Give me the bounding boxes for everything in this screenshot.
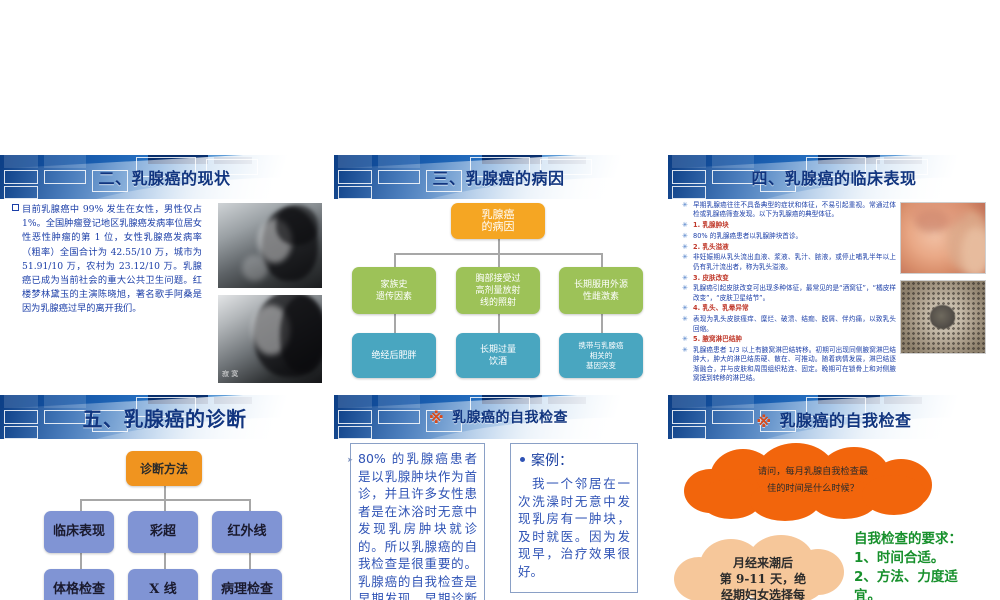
flow-node-level1-0: 家族史 遗传因素	[352, 267, 436, 314]
list-item: ✳乳腺癌引起皮肤改变可出现多种体征，最常见的是“酒窝征”，“橘皮样改变”，“皮肤…	[678, 284, 896, 303]
diagnosis-flowchart: 诊断方法 临床表现 彩超 红外线 体格检查 X 线 病理检查	[0, 451, 329, 600]
asterisk-icon: ✳	[682, 315, 688, 324]
photo-caption: 寂 寞	[222, 369, 238, 379]
list-item: ✳乳腺癌患者 1/3 以上有腋窝淋巴结转移。初期可出现同侧腋窝淋巴结肿大，肿大的…	[678, 346, 896, 383]
photo-woman-portrait-2: 寂 寞	[218, 295, 322, 383]
arrow-bullet-icon: ➤	[347, 452, 353, 470]
list-item: ✳3. 皮肤改变	[678, 274, 896, 283]
slide-grid: 二、乳腺癌的现状 目前乳腺癌中 99% 发生在女性，男性仅占 1%。全国肿瘤登记…	[0, 155, 1000, 600]
asterisk-icon: ✳	[682, 346, 688, 355]
asterisk-icon: ✳	[682, 284, 688, 293]
flow-node-level2-0: 绝经后肥胖	[352, 333, 436, 378]
body-paragraph: 目前乳腺癌中 99% 发生在女性，男性仅占 1%。全国肿瘤登记地区乳腺癌发病率位…	[22, 203, 202, 317]
slide-title: ※乳腺癌的自我检查	[668, 407, 1000, 431]
asterisk-icon: ✳	[682, 253, 688, 262]
flow-node-level1-1: 胸部接受过 高剂量放射 线的照射	[456, 267, 540, 314]
slide-title: ※乳腺癌的自我检查	[334, 407, 663, 427]
list-item: ✳早期乳腺癌往往不具备典型的症状和体征，不易引起重视。常通过体检或乳腺癌筛查发现…	[678, 201, 896, 220]
slide-thumbnail-5[interactable]: 五、乳腺癌的诊断 诊断方法 临床表现 彩超 红外线 体格检查 X 线 病理检查	[0, 395, 329, 600]
flow-node-level1-1: 彩超	[128, 511, 198, 553]
flow-node-root: 乳腺癌 的病因	[451, 203, 545, 239]
list-item: ✳5. 腋窝淋巴结肿	[678, 335, 896, 344]
slide-thumbnail-7[interactable]: ※乳腺癌的自我检查 请问，每月乳腺自我检查最 佳的时间是什么时候？ 月经来潮后 …	[668, 395, 1000, 600]
question-cloud: 请问，每月乳腺自我检查最 佳的时间是什么时候？	[684, 443, 940, 521]
medical-photo-skin-dimpling	[900, 202, 986, 274]
question-text: 请问，每月乳腺自我检查最 佳的时间是什么时候？	[710, 463, 916, 497]
cause-flowchart: 乳腺癌 的病因 家族史 遗传因素 胸部接受过 高剂量放射 线的照射 长期服用外源…	[334, 207, 663, 390]
list-item: ✳表现为乳头皮肤瘙痒、糜烂、破溃、结痂、脱屑、伴灼痛，以致乳头回缩。	[678, 315, 896, 334]
case-text-box: 案例： 我一个邻居在一次洗澡时无意中发现乳房有一肿块，及时就医。因为发现早，治疗…	[510, 443, 638, 593]
photo-woman-portrait-1	[218, 203, 322, 288]
slide-title: 五、乳腺癌的诊断	[0, 403, 329, 432]
case-heading: 案例：	[518, 450, 630, 470]
medical-photo-peau-dorange	[900, 280, 986, 354]
flow-node-level2-1: 长期过量 饮酒	[456, 333, 540, 378]
slide-title: 二、乳腺癌的现状	[0, 165, 329, 189]
flow-node-level1-2: 长期服用外源 性雌激素	[559, 267, 643, 314]
flow-node-level1-0: 临床表现	[44, 511, 114, 553]
asterisk-icon: ✳	[682, 201, 688, 210]
slide-thumbnail-3[interactable]: 三、乳腺癌的病因 乳腺癌 的病因 家族史 遗传因素 胸部接受过 高剂量放射 线的…	[334, 155, 663, 390]
list-item: ✳2. 乳头溢液	[678, 243, 896, 252]
self-exam-requirements: 自我检查的要求： 1、时间合适。 2、方法、力度适 宜。	[854, 530, 962, 600]
flow-node-level2-0: 体格检查	[44, 569, 114, 600]
slide-thumbnail-page: 二、乳腺癌的现状 目前乳腺癌中 99% 发生在女性，男性仅占 1%。全国肿瘤登记…	[0, 0, 1000, 600]
asterisk-icon: ✳	[682, 274, 688, 283]
asterisk-icon: ✳	[682, 304, 688, 313]
reference-mark-icon: ※	[429, 409, 444, 427]
flow-node-level1-2: 红外线	[212, 511, 282, 553]
slide-title: 三、乳腺癌的病因	[334, 165, 663, 189]
slide-thumbnail-2[interactable]: 二、乳腺癌的现状 目前乳腺癌中 99% 发生在女性，男性仅占 1%。全国肿瘤登记…	[0, 155, 329, 390]
clinical-signs-list: ✳早期乳腺癌往往不具备典型的症状和体征，不易引起重视。常通过体检或乳腺癌筛查发现…	[678, 201, 896, 385]
slide-title: 四、乳腺癌的临床表现	[668, 165, 1000, 189]
answer-text: 月经来潮后 第 9-11 天，绝 经期妇女选择每	[688, 555, 838, 600]
answer-cloud: 月经来潮后 第 9-11 天，绝 经期妇女选择每	[674, 535, 844, 600]
asterisk-icon: ✳	[682, 232, 688, 241]
reference-mark-icon: ※	[756, 413, 771, 431]
slide-thumbnail-4[interactable]: 四、乳腺癌的临床表现 ✳早期乳腺癌往往不具备典型的症状和体征，不易引起重视。常通…	[668, 155, 1000, 390]
slide-banner: 五、乳腺癌的诊断	[0, 395, 329, 453]
bullet-icon	[12, 204, 19, 211]
self-exam-text-box: ➤ 80% 的乳腺癌患者是以乳腺肿块作为首诊，并且许多女性患者是在沐浴时无意中发…	[350, 443, 485, 600]
flow-node-level2-1: X 线	[128, 569, 198, 600]
asterisk-icon: ✳	[682, 243, 688, 252]
case-paragraph: 我一个邻居在一次洗澡时无意中发现乳房有一肿块，及时就医。因为发现早，治疗效果很好…	[518, 475, 630, 580]
flow-node-level2-2: 病理检查	[212, 569, 282, 600]
asterisk-icon: ✳	[682, 335, 688, 344]
list-item: ✳非妊娠期从乳头流出血液、浆液、乳汁、脓液，或停止哺乳半年以上仍有乳汁流出者，称…	[678, 253, 896, 272]
asterisk-icon: ✳	[682, 221, 688, 230]
flow-node-level2-2: 携带与乳腺癌 相关的 基因突变	[559, 333, 643, 378]
body-paragraph: ➤ 80% 的乳腺癌患者是以乳腺肿块作为首诊，并且许多女性患者是在沐浴时无意中发…	[358, 450, 477, 600]
list-item: ✳80% 的乳腺癌患者以乳腺肿块首诊。	[678, 232, 896, 241]
flow-node-root: 诊断方法	[126, 451, 202, 486]
list-item: ✳4. 乳头、乳晕异常	[678, 304, 896, 313]
list-item: ✳1. 乳腺肿块	[678, 221, 896, 230]
slide-thumbnail-6[interactable]: ※乳腺癌的自我检查 ➤ 80% 的乳腺癌患者是以乳腺肿块作为首诊，并且许多女性患…	[334, 395, 663, 600]
